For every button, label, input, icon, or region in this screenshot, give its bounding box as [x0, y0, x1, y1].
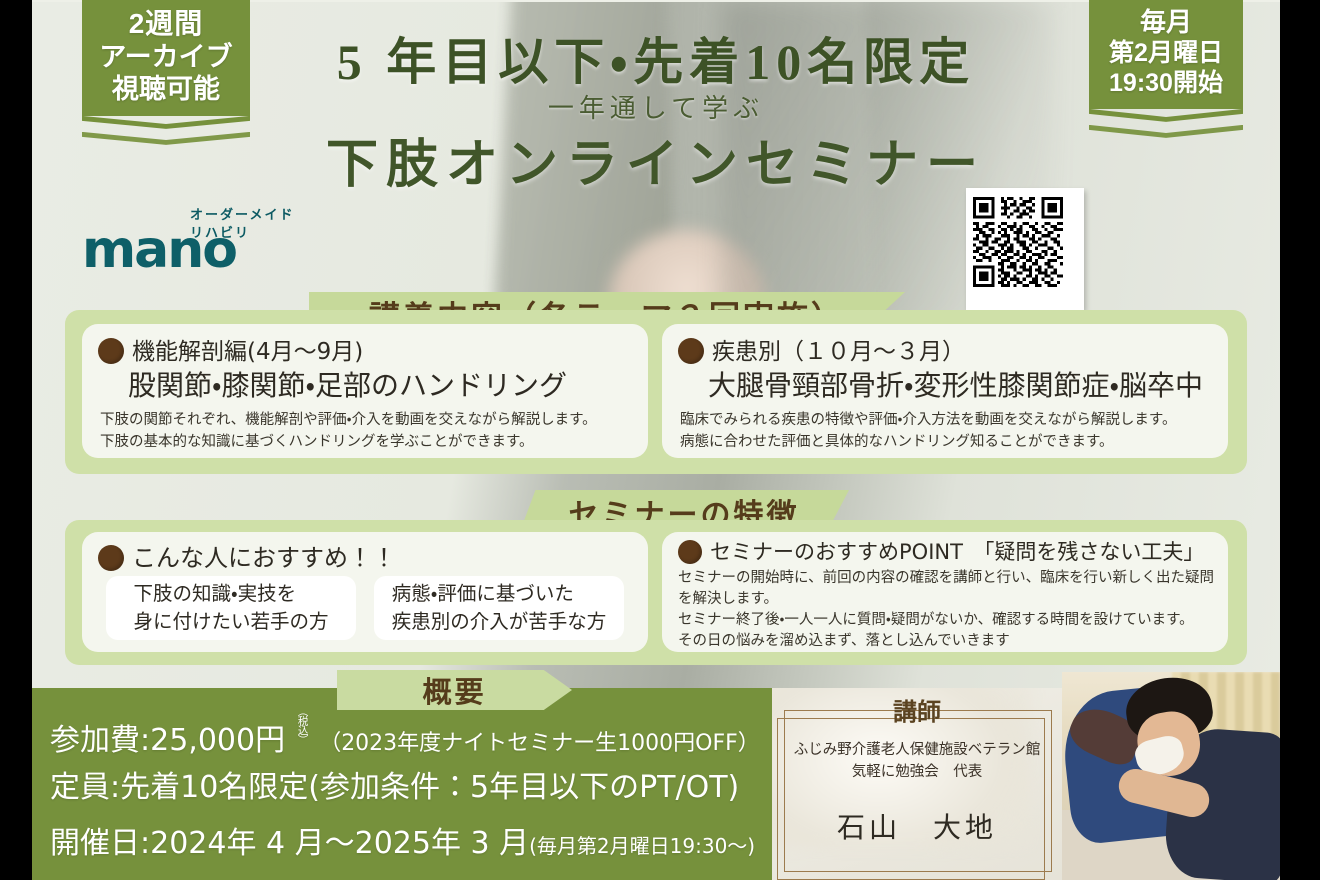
headline-sub: 一年通して学ぶ	[32, 88, 1280, 125]
recommend-chip-1: 下肢の知識・実技を 身に付けたい若手の方	[106, 576, 356, 640]
feature-card-recommend: こんな人におすすめ！！ 下肢の知識・実技を 身に付けたい若手の方 病態・評価に基…	[82, 532, 648, 652]
outline-panel: 参加費:25,000円 （税込） （2023年度ナイトセミナー生1000円OFF…	[32, 688, 772, 880]
lecturer-organization: ふじみ野介護老人保健施設ベテラン館 気軽に勉強会 代表	[772, 740, 1062, 784]
lecture-card-disease: 疾患別（１０月〜３月） 大腿骨頸部骨折・変形性膝関節症・脳卒中 臨床でみられる疾…	[662, 324, 1228, 458]
outline-fee-row: 参加費:25,000円 （税込） （2023年度ナイトセミナー生1000円OFF…	[50, 706, 760, 759]
recommend-chip-2: 病態・評価に基づいた 疾患別の介入が苦手な方	[374, 576, 624, 640]
feature-point-title-row: セミナーのおすすめPOINT 「疑問を残さない工夫」	[678, 536, 1204, 566]
lecture-card-2-title: 疾患別（１０月〜３月）	[712, 339, 965, 365]
poster-root: 2週間 アーカイブ 視聴可能 毎月 第2月曜日 19:30開始 5 年目以下・先…	[0, 0, 1320, 880]
page-title: 下肢オンラインセミナー	[32, 122, 1280, 197]
bullet-icon	[678, 540, 702, 564]
lecturer-heading: 講師	[772, 692, 1062, 727]
lecture-section: 機能解剖編(4月〜9月) 股関節・膝関節・足部のハンドリング 下肢の関節それぞれ…	[65, 310, 1247, 474]
lecture-card-2-title-row: 疾患別（１０月〜３月）	[678, 332, 965, 366]
lecture-card-anatomy: 機能解剖編(4月〜9月) 股関節・膝関節・足部のハンドリング 下肢の関節それぞれ…	[82, 324, 648, 458]
outline-fee-label: 参加費:25,000円	[50, 723, 285, 758]
outline-fee-note: （2023年度ナイトセミナー生1000円OFF）	[319, 731, 760, 756]
outline-date-row: 開催日:2024年 4 月〜2025年 3 月(毎月第2月曜日19:30〜)	[50, 818, 755, 862]
feature-recommend-title-row: こんな人におすすめ！！	[98, 538, 396, 573]
recommend-chip-2-text: 病態・評価に基づいた 疾患別の介入が苦手な方	[392, 580, 607, 635]
lecture-card-2-note: 臨床でみられる疾患の特徴や評価・介入方法を動画を交えながら解説します。 病態に合…	[680, 410, 1176, 454]
lecturer-photo	[1062, 672, 1280, 880]
lecturer-name: 石山 大地	[772, 806, 1062, 846]
mano-logo: オーダーメイド リハビリ mano	[82, 198, 297, 282]
outline-capacity: 定員:先着10名限定(参加条件：5年目以下のPT/OT)	[50, 762, 739, 806]
feature-recommend-title: こんな人におすすめ！！	[132, 544, 396, 572]
section-heading-outline: 概要	[337, 670, 572, 710]
lecture-card-1-title-row: 機能解剖編(4月〜9月)	[98, 332, 363, 366]
recommend-chip-1-text: 下肢の知識・実技を 身に付けたい若手の方	[133, 580, 328, 635]
flyer-canvas: 2週間 アーカイブ 視聴可能 毎月 第2月曜日 19:30開始 5 年目以下・先…	[32, 0, 1280, 880]
lecture-card-2-subtitle: 大腿骨頸部骨折・変形性膝関節症・脳卒中	[708, 364, 1203, 404]
lecturer-panel: 講師 ふじみ野介護老人保健施設ベテラン館 気軽に勉強会 代表 石山 大地	[772, 688, 1062, 880]
lecture-card-1-note: 下肢の関節それぞれ、機能解剖や評価・介入を動画を交えながら解説します。 下肢の基…	[100, 410, 597, 454]
feature-section: こんな人におすすめ！！ 下肢の知識・実技を 身に付けたい若手の方 病態・評価に基…	[65, 520, 1247, 665]
feature-card-point: セミナーのおすすめPOINT 「疑問を残さない工夫」 セミナーの開始時に、前回の…	[662, 532, 1228, 652]
feature-point-body: セミナーの開始時に、前回の内容の確認を講師と行い、臨床を行い新しく出た疑問 を解…	[678, 568, 1214, 652]
qr-code-svg	[973, 195, 1063, 289]
feature-point-title: セミナーのおすすめPOINT 「疑問を残さない工夫」	[710, 540, 1204, 564]
outline-date-main: 開催日:2024年 4 月〜2025年 3 月	[50, 826, 529, 861]
outline-date-note: (毎月第2月曜日19:30〜)	[529, 834, 755, 858]
outline-fee-tax: （税込）	[297, 706, 308, 744]
lecture-card-1-subtitle: 股関節・膝関節・足部のハンドリング	[128, 364, 567, 404]
qr-code-icon[interactable]	[966, 188, 1084, 310]
bullet-icon	[678, 338, 704, 364]
bullet-icon	[98, 338, 124, 364]
bullet-icon	[98, 545, 124, 571]
lecture-card-1-title: 機能解剖編(4月〜9月)	[132, 339, 363, 365]
headline-lead: 5 年目以下・先着10名限定	[32, 22, 1280, 94]
logo-wordmark: mano	[82, 220, 236, 280]
